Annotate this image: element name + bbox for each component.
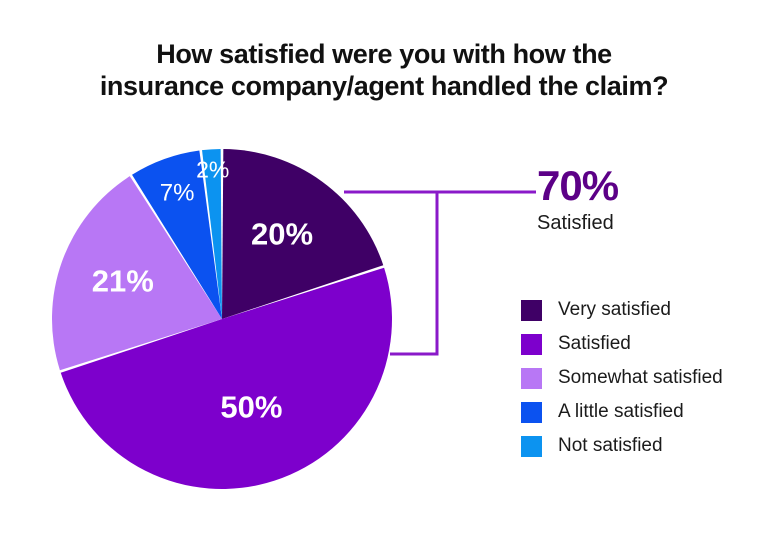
legend-item[interactable]: Somewhat satisfied [521,361,761,395]
chart-canvas: How satisfied were you with how the insu… [0,0,768,553]
pie-slices [52,149,392,489]
callout-annotation: 70% Satisfied [537,164,757,236]
callout-value: 70% [537,164,757,208]
legend-item[interactable]: Satisfied [521,327,761,361]
legend-item[interactable]: Not satisfied [521,429,761,463]
title-line-2: insurance company/agent handled the clai… [0,70,768,102]
pie-slice-value-label: 21% [92,263,154,298]
pie-slice-value-label: 2% [196,156,229,182]
pie-chart-svg: 20%50%21%7%2% [50,147,394,491]
legend-item-label: Somewhat satisfied [558,367,723,389]
legend-item-label: Very satisfied [558,299,671,321]
title-line-1: How satisfied were you with how the [0,38,768,70]
pie-chart: 20%50%21%7%2% [50,147,394,491]
legend-item[interactable]: Very satisfied [521,293,761,327]
pie-slice-value-label: 50% [220,390,282,425]
legend-swatch-icon [521,368,542,389]
callout-caption: Satisfied [537,210,757,236]
legend-swatch-icon [521,402,542,423]
legend-swatch-icon [521,436,542,457]
page-title: How satisfied were you with how the insu… [0,38,768,102]
legend-swatch-icon [521,300,542,321]
legend-item-label: Satisfied [558,333,631,355]
pie-slice-value-label: 7% [160,180,195,207]
legend-swatch-icon [521,334,542,355]
legend-item-label: Not satisfied [558,435,663,457]
legend-item-label: A little satisfied [558,401,684,423]
pie-slice-value-label: 20% [251,217,313,252]
chart-legend: Very satisfiedSatisfiedSomewhat satisfie… [521,293,761,463]
legend-item[interactable]: A little satisfied [521,395,761,429]
